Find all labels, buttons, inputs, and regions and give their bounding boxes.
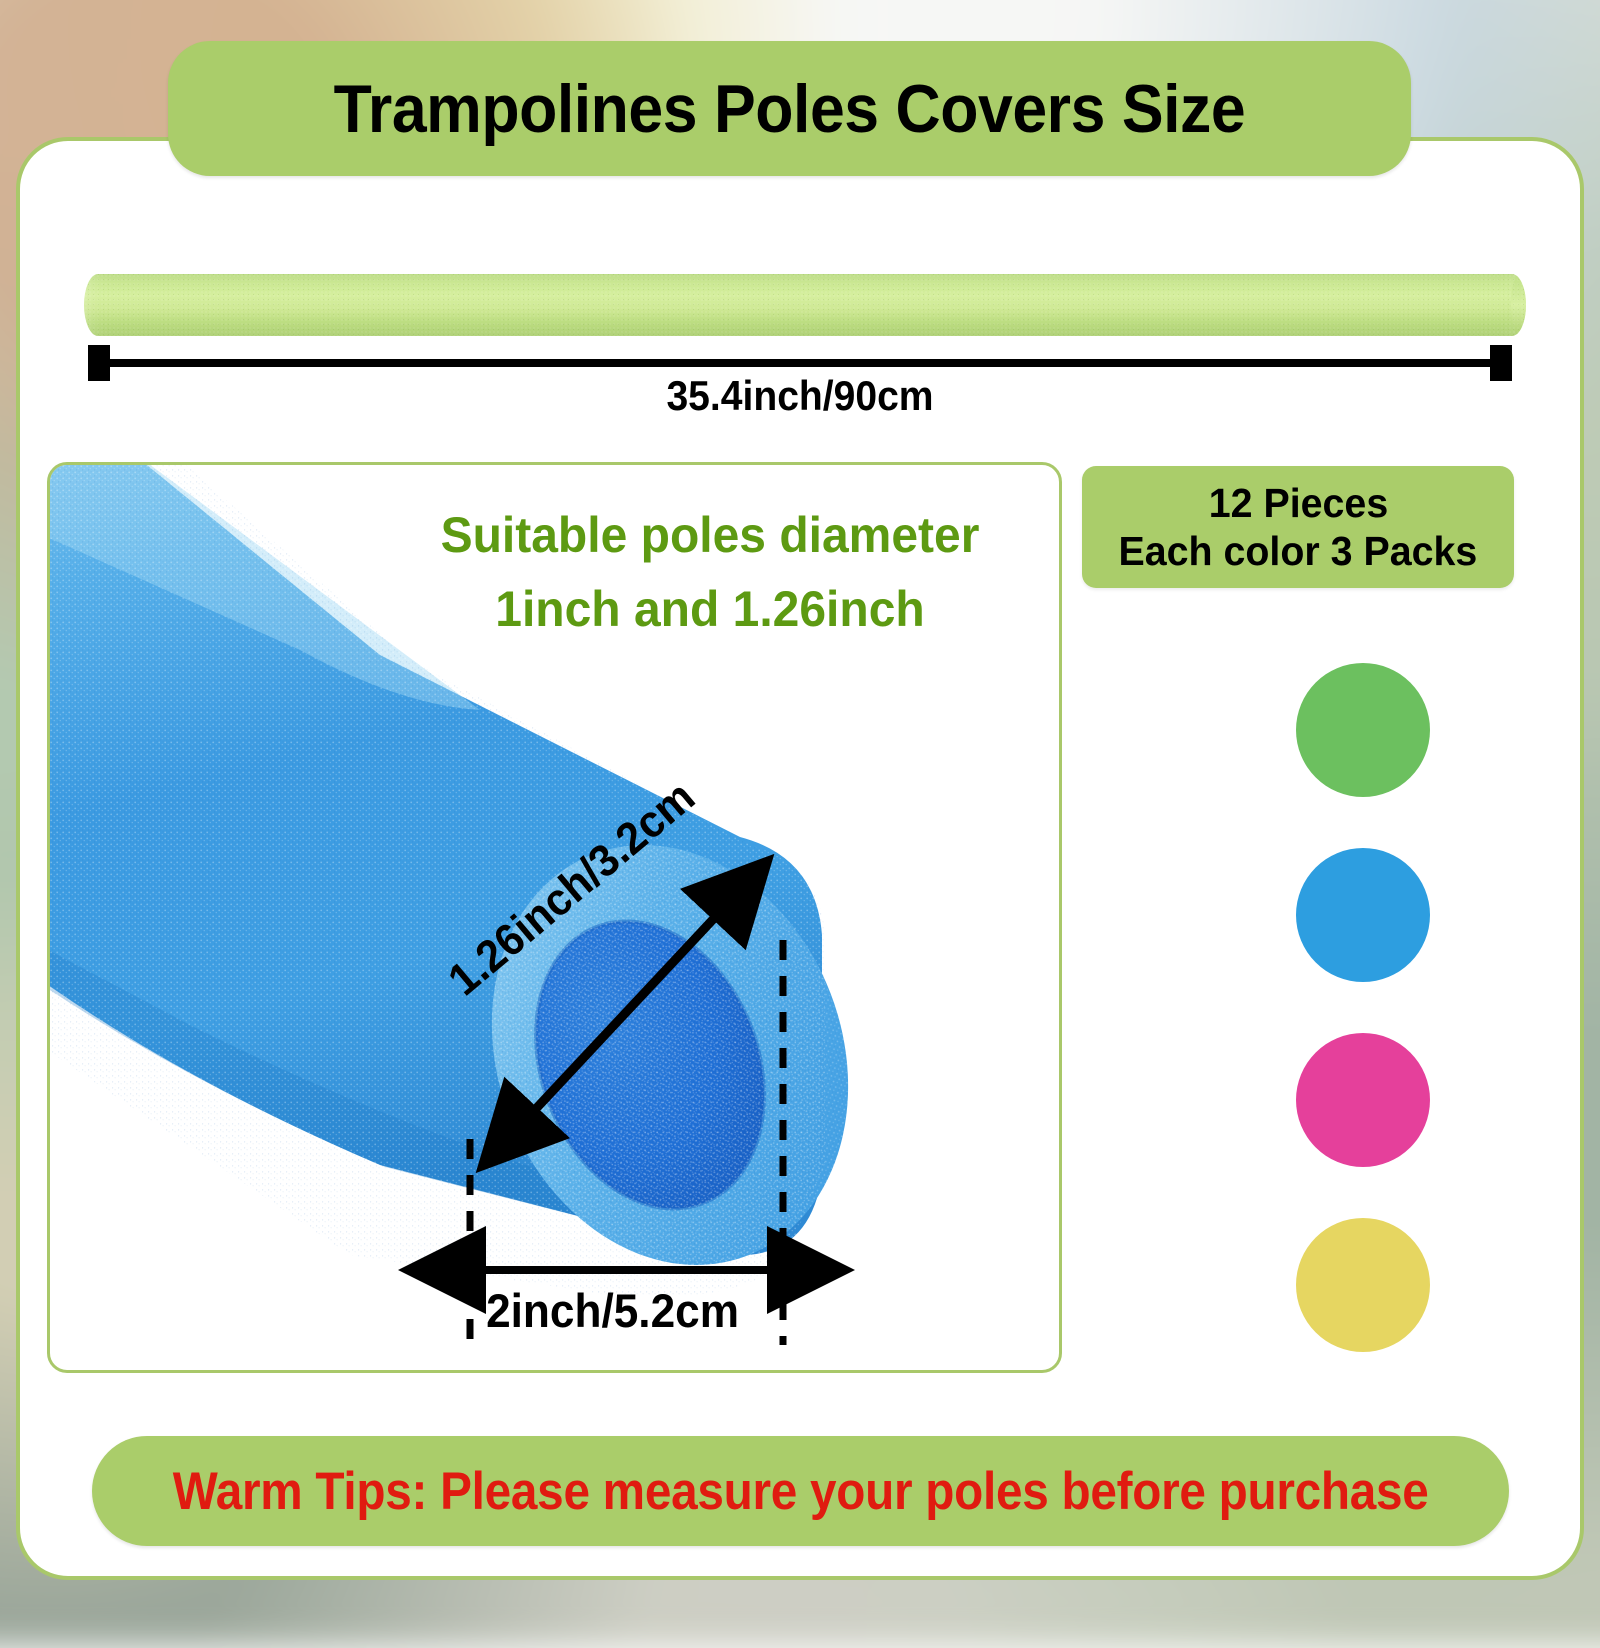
suitable-poles-line1: Suitable poles diameter [393,498,1027,572]
color-swatch-yellow [1296,1218,1430,1352]
pieces-count-badge: 12 Pieces Each color 3 Packs [1082,466,1514,588]
page-title: Trampolines Poles Covers Size [334,75,1246,143]
color-swatch-blue [1296,848,1430,982]
outer-diameter-label: 2inch/5.2cm [486,1283,739,1338]
warm-tips-banner: Warm Tips: Please measure your poles bef… [92,1436,1509,1546]
title-banner: Trampolines Poles Covers Size [168,41,1411,176]
color-swatch-green [1296,663,1430,797]
suitable-poles-text: Suitable poles diameter 1inch and 1.26in… [393,498,1027,646]
pieces-badge-line1: 12 Pieces [1208,479,1387,527]
pieces-badge-line2: Each color 3 Packs [1119,527,1478,575]
suitable-poles-line2: 1inch and 1.26inch [393,572,1027,646]
warm-tips-text: Warm Tips: Please measure your poles bef… [173,1465,1429,1518]
green-foam-tube-image [84,274,1526,336]
length-dimension-label: 35.4inch/90cm [56,372,1544,420]
color-swatch-pink [1296,1033,1430,1167]
green-tube-end-cap [1511,274,1526,336]
